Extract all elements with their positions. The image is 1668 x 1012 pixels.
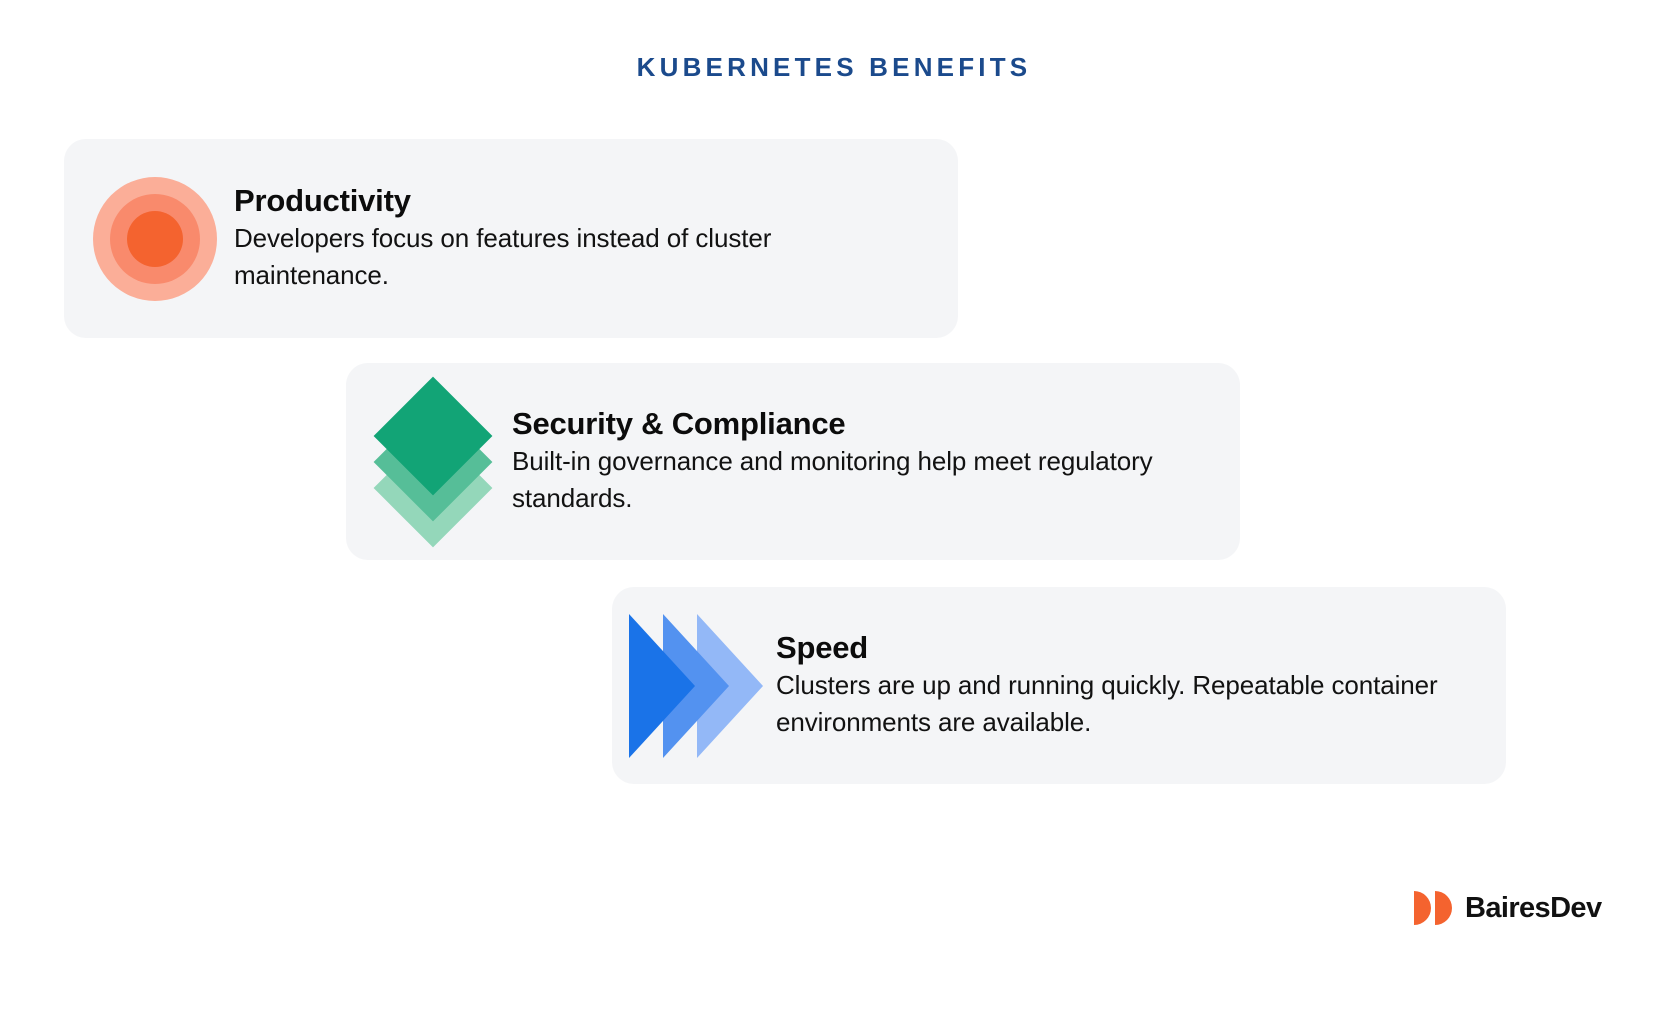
benefit-card-speed: Speed Clusters are up and running quickl… bbox=[612, 587, 1506, 784]
benefit-card-description: Developers focus on features instead of … bbox=[234, 220, 920, 293]
benefit-card-description: Built-in governance and monitoring help … bbox=[512, 443, 1202, 516]
logo-half-disc-right bbox=[1435, 891, 1452, 925]
bairesdev-logo: BairesDev bbox=[1414, 888, 1601, 928]
concentric-circles-icon bbox=[76, 169, 234, 309]
infographic-canvas: KUBERNETES BENEFITS Productivity Develop… bbox=[0, 0, 1668, 1012]
fast-forward-chevrons-icon bbox=[618, 616, 776, 756]
benefit-card-title: Productivity bbox=[234, 184, 920, 219]
benefit-card-title: Security & Compliance bbox=[512, 407, 1202, 442]
benefit-card-title: Speed bbox=[776, 631, 1468, 666]
benefit-card-description: Clusters are up and running quickly. Rep… bbox=[776, 667, 1468, 740]
circle-inner-dot bbox=[127, 211, 183, 267]
benefit-card-body: Speed Clusters are up and running quickl… bbox=[776, 631, 1506, 741]
bairesdev-logo-mark-icon bbox=[1414, 891, 1456, 925]
stacked-layers-icon bbox=[354, 392, 512, 532]
bairesdev-logo-text: BairesDev bbox=[1465, 894, 1601, 923]
benefit-card-productivity: Productivity Developers focus on feature… bbox=[64, 139, 958, 338]
benefit-card-body: Productivity Developers focus on feature… bbox=[234, 184, 958, 294]
logo-half-disc-left bbox=[1414, 891, 1431, 925]
benefit-card-security-compliance: Security & Compliance Built-in governanc… bbox=[346, 363, 1240, 560]
page-title: KUBERNETES BENEFITS bbox=[0, 52, 1668, 83]
benefit-card-body: Security & Compliance Built-in governanc… bbox=[512, 407, 1240, 517]
chevron-first bbox=[629, 614, 695, 758]
